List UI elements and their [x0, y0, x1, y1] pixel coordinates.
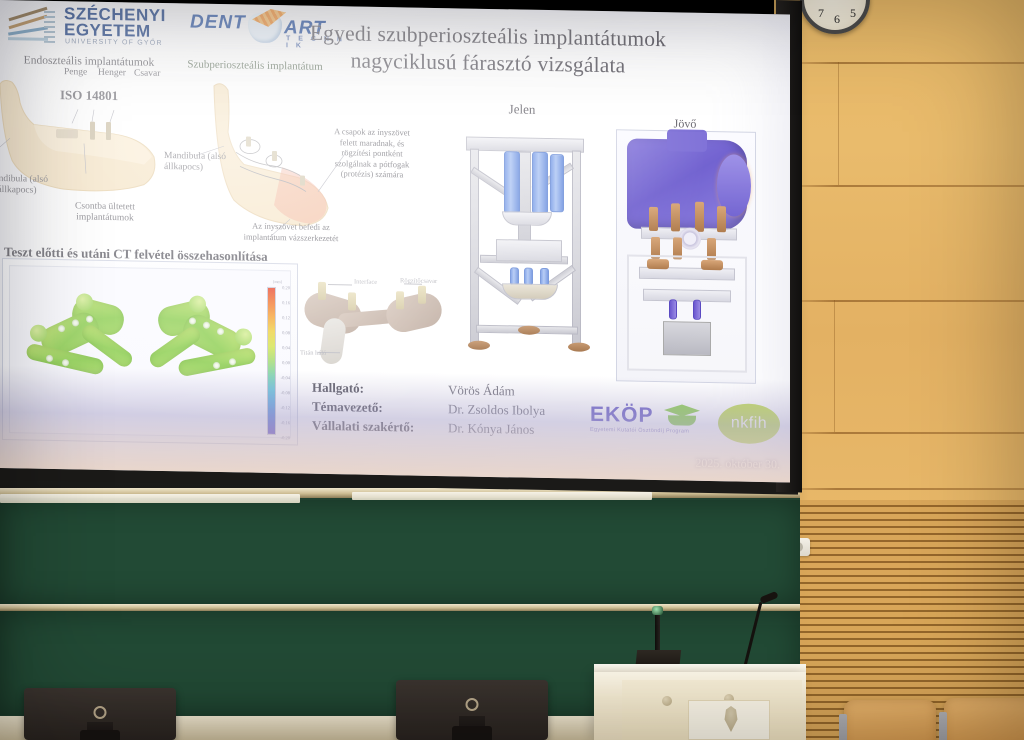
wood-wall-panel: 7 6 5 — [774, 0, 1024, 740]
chalkboard-panel-upper — [0, 500, 800, 604]
wall-clock: 7 6 5 — [800, 0, 870, 34]
slide-date: 2025. október 30. — [695, 456, 780, 473]
test-rig-present — [452, 126, 600, 379]
label-gingiva-note: Az ínyszövet befedi az implantátum vázsz… — [236, 220, 346, 243]
label-csavar: Csavar — [134, 68, 160, 78]
credit-name: Dr. Kónya János — [448, 420, 534, 437]
section-title-endosteal: Endoszteális implantátumok — [4, 54, 174, 69]
label-interface: Interface — [354, 278, 377, 285]
test-rig-future — [616, 129, 756, 384]
ct-comparison-figure: [mm] 0.20 0.16 0.12 0.08 0.04 0.00 -0.04… — [2, 258, 298, 445]
lecture-chair[interactable] — [944, 698, 1024, 740]
label-henger: Henger — [98, 68, 126, 79]
desk-monitor[interactable] — [24, 688, 176, 740]
label-abutment-note: A csapok az ínyszövet felett maradnak, é… — [326, 126, 418, 180]
label-mandible-left: Mandibula (alsó állkapocs) — [0, 174, 52, 197]
ct-colorbar — [267, 287, 276, 435]
lecture-chair[interactable] — [844, 700, 936, 740]
ekop-subtitle: Egyetemi Kutatói Ösztöndíj Program — [590, 427, 714, 435]
clock-number-6: 6 — [834, 12, 840, 27]
ct-implant-left — [24, 292, 144, 399]
ceiling-light-reflection — [0, 494, 300, 503]
label-penge: Penge — [64, 67, 87, 77]
label-bone-implants: Csontba ültetett implantátumok — [62, 201, 148, 225]
colorbar-caption: [mm] — [273, 279, 282, 284]
label-mandible-middle: Mandibula (alsó állkapocs) — [164, 151, 248, 175]
ct-implant-right — [138, 295, 258, 402]
label-titanium-mesh: Titán háló — [300, 349, 326, 356]
clock-number-7: 7 — [818, 6, 824, 21]
graduation-cap-base-icon — [668, 415, 696, 426]
section-title-subperiosteal: Szubperioszteális implantátum — [180, 57, 330, 74]
chalkboard-mid-ledge — [0, 604, 800, 611]
podium-knob — [662, 696, 672, 706]
lecture-hall-photo: 7 6 5 — [0, 0, 1024, 740]
projection-screen: SZÉCHENYI EGYETEM UNIVERSITY OF GYŐR DEN… — [0, 0, 790, 482]
monitor-brand-icon — [466, 698, 479, 711]
label-fixing-screw: Rögzítőcsavar — [400, 277, 437, 285]
credit-name: Dr. Zsoldos Ibolya — [448, 401, 545, 418]
nkfih-logo: nkfih — [718, 403, 780, 444]
credit-role: Vállalati szakértő: — [312, 416, 448, 437]
credit-role: Hallgató: — [312, 378, 448, 399]
slide-title: Egyedi szubperioszteális implantátumok n… — [268, 19, 708, 81]
ct-colorbar-ticks: 0.20 0.16 0.12 0.08 0.04 0.00 -0.04 -0.0… — [276, 285, 290, 437]
monitor-brand-icon — [94, 706, 107, 719]
desk-monitor[interactable] — [396, 680, 548, 740]
clock-number-5: 5 — [850, 6, 856, 21]
credit-role: Témavezető: — [312, 397, 448, 418]
uni-logo-line3: UNIVERSITY OF GYŐR — [65, 38, 163, 47]
slide-credits: Hallgató:Vörös Ádám Témavezető:Dr. Zsold… — [312, 378, 545, 439]
label-jelen: Jelen — [462, 100, 582, 118]
presentation-slide: SZÉCHENYI EGYETEM UNIVERSITY OF GYŐR DEN… — [0, 0, 790, 482]
implant-interface-figure: Interface Rögzítőcsavar Titán háló — [300, 267, 450, 370]
motor-assembly — [627, 138, 747, 230]
credit-name: Vörös Ádám — [448, 382, 515, 398]
desk-microphone-head — [652, 606, 663, 615]
ceiling-light-reflection — [352, 492, 652, 500]
szechenyi-university-logo: SZÉCHENYI EGYETEM UNIVERSITY OF GYŐR — [8, 4, 178, 51]
dent-logo-part1: DENT — [190, 11, 246, 34]
ekop-logo: EKÖP Egyetemi Kutatói Ösztöndíj Program — [590, 403, 714, 441]
credit-row: Vállalati szakértő:Dr. Kónya János — [312, 416, 545, 439]
uni-logo-line2: EGYETEM — [64, 22, 151, 40]
